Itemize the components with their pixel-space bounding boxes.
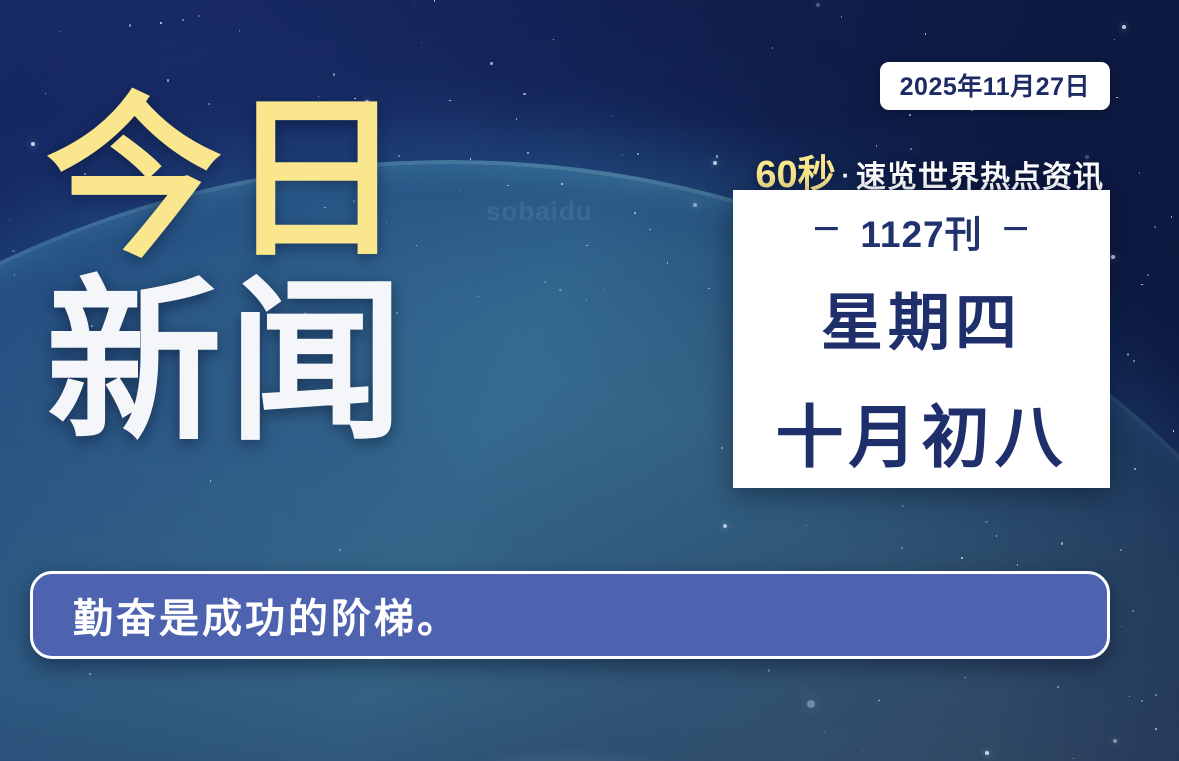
issue-dash-left: － [811,216,842,246]
quote-text: 勤奋是成功的阶梯。 [73,586,460,644]
page-title: 今日 新闻 [46,96,410,448]
title-line-news: 新闻 [46,279,410,448]
weekday-label: 星期四 [821,272,1022,362]
tagline-separator-dot: · [842,162,850,191]
title-line-today: 今日 [46,96,410,265]
news-poster: sobaidu 今日 新闻 2025年11月27日 60秒 · 速览世界热点资讯… [0,0,1179,761]
lunar-date-label: 十月初八 [775,382,1067,481]
date-badge: 2025年11月27日 [880,62,1110,110]
issue-row: － 1127刊 － [811,204,1031,258]
issue-number: 1127刊 [860,204,982,258]
date-info-card: － 1127刊 － 星期四 十月初八 [733,190,1110,488]
issue-dash-right: － [1001,216,1032,246]
quote-bar: 勤奋是成功的阶梯。 [30,571,1110,659]
